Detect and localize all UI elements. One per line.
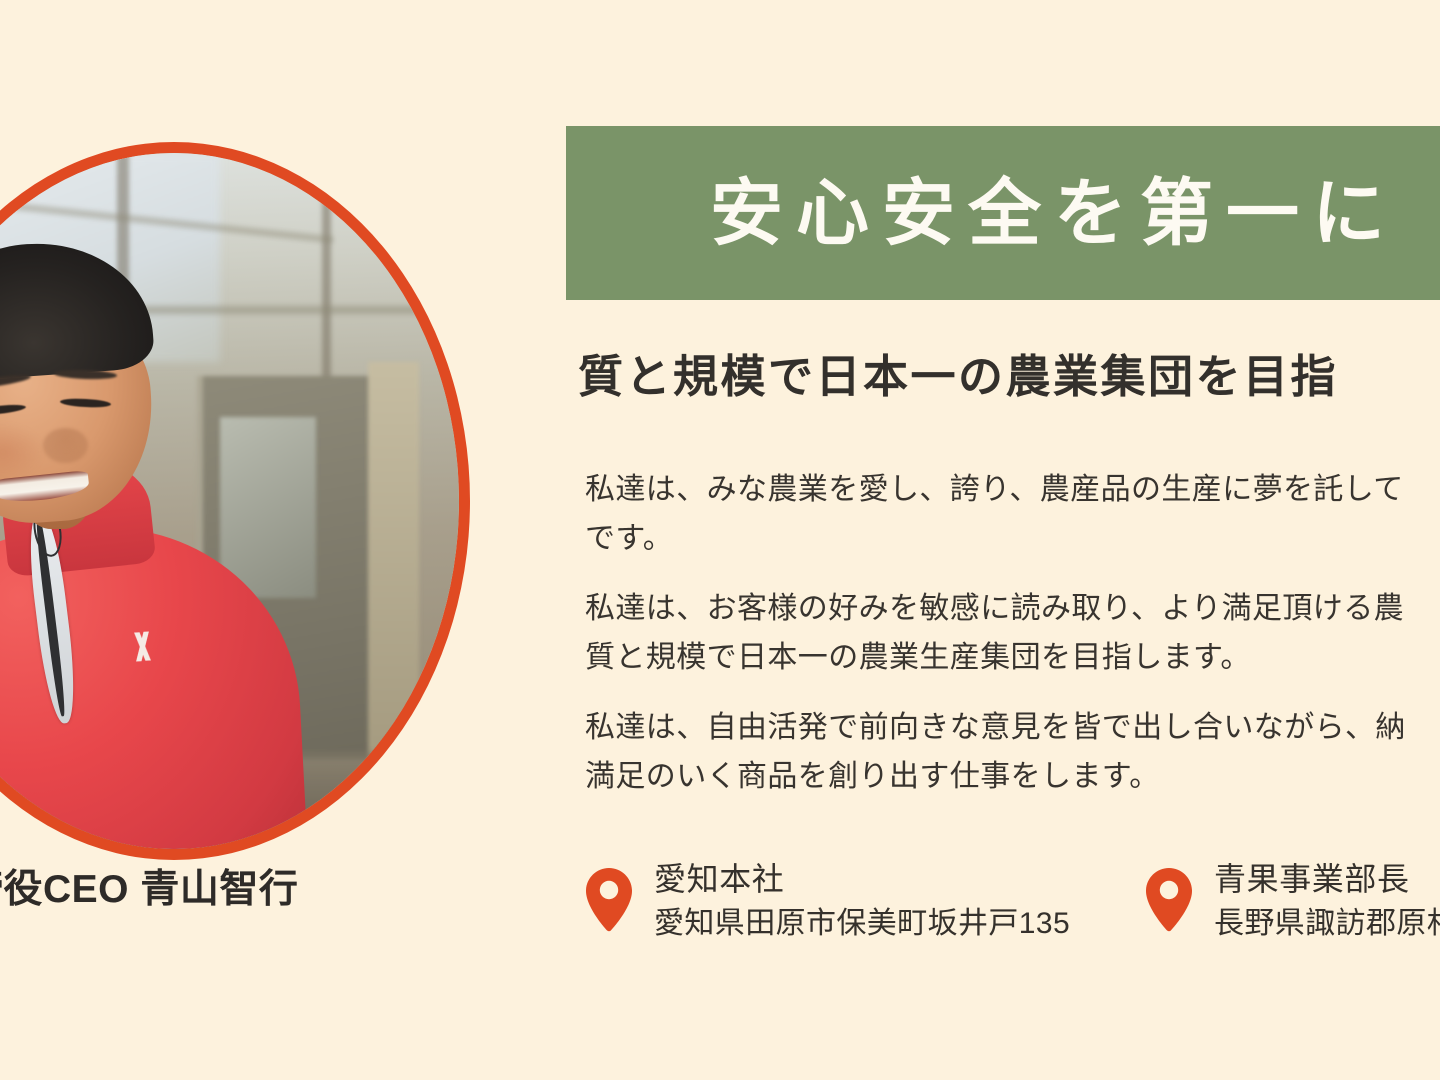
banner-strip: 安心安全を第一に [566,126,1440,300]
map-pin-icon [586,868,632,932]
backdrop-door-glass [220,417,317,598]
banner-title: 安心安全を第一に [710,177,1398,250]
location-address: 長野県諏訪郡原村 [1214,907,1440,940]
page-title: 質と規模で日本一の農業集団を目指 [578,352,1338,402]
location-name: 青果事業部長 [1214,862,1440,897]
portrait-ring [0,142,470,860]
location-item: 愛知本社 愛知県田原市保美町坂井戸135 [586,862,1146,940]
person-nose [43,428,89,463]
location-name: 愛知本社 [654,862,1070,897]
shirt-brand-logo-icon [116,630,169,663]
body-paragraph: 私達は、お客様の好みを敏感に読み取り、より満足頂ける農 質と規模で日本一の農業生… [585,585,1440,682]
body-paragraph: 私達は、みな農業を愛し、誇り、農産品の生産に夢を託して です。 [585,466,1440,563]
location-text: 青果事業部長 長野県諏訪郡原村 [1214,862,1440,940]
backdrop-door-frame [368,362,419,780]
portrait-figure [0,142,470,860]
slide-canvas: 締役CEO 青山智行 安心安全を第一に 質と規模で日本一の農業集団を目指 私達は… [0,0,1440,1080]
location-text: 愛知本社 愛知県田原市保美町坂井戸135 [654,862,1070,940]
portrait-caption: 締役CEO 青山智行 [0,868,384,913]
map-pin-icon [1146,868,1192,932]
body-text-block: 私達は、みな農業を愛し、誇り、農産品の生産に夢を託して です。 私達は、お客様の… [585,466,1440,802]
portrait-photo [0,153,459,849]
locations-list: 愛知本社 愛知県田原市保美町坂井戸135 青果事業部長 長野県諏訪郡原村 [586,862,1440,940]
body-paragraph: 私達は、自由活発で前向きな意見を皆で出し合いながら、納 満足のいく商品を創り出す… [585,704,1440,801]
location-address: 愛知県田原市保美町坂井戸135 [654,907,1070,940]
content-column: 安心安全を第一に 質と規模で日本一の農業集団を目指 私達は、みな農業を愛し、誇り… [566,0,1440,1080]
location-item: 青果事業部長 長野県諏訪郡原村 [1146,862,1440,940]
